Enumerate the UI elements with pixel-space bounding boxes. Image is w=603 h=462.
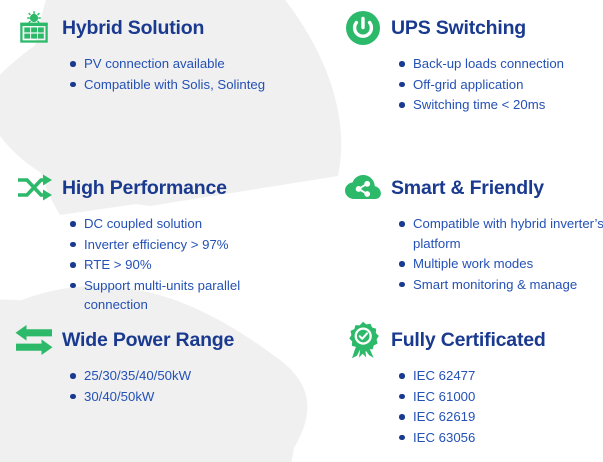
shuffle-arrows-icon	[14, 168, 54, 208]
feature-wide-power-range: Wide Power Range 25/30/35/40/50kW 30/40/…	[14, 320, 282, 407]
feature-ups-switching: UPS Switching Back-up loads connection O…	[343, 8, 603, 116]
feature-hybrid-solution: Hybrid Solution PV connection available …	[14, 8, 282, 95]
feature-list: 25/30/35/40/50kW 30/40/50kW	[14, 366, 282, 406]
list-item: Multiple work modes	[399, 254, 603, 274]
feature-high-performance: High Performance DC coupled solution Inv…	[14, 168, 282, 316]
feature-title: UPS Switching	[391, 17, 526, 40]
feature-fully-certificated: Fully Certificated IEC 62477 IEC 61000 I…	[343, 320, 603, 448]
feature-title: Smart & Friendly	[391, 177, 544, 200]
list-item: IEC 62477	[399, 366, 603, 386]
certificate-rosette-icon	[343, 320, 383, 360]
solar-panel-icon	[14, 8, 54, 48]
list-item: DC coupled solution	[70, 214, 282, 234]
list-item: Switching time < 20ms	[399, 95, 603, 115]
feature-title: Hybrid Solution	[62, 17, 204, 40]
feature-list: PV connection available Compatible with …	[14, 54, 282, 94]
cloud-share-icon	[343, 168, 383, 208]
list-item: Off-grid application	[399, 75, 603, 95]
list-item: IEC 61000	[399, 387, 603, 407]
list-item: IEC 63056	[399, 428, 603, 448]
feature-title: High Performance	[62, 177, 227, 200]
feature-title: Fully Certificated	[391, 329, 546, 352]
list-item: Support multi-units parallel connection	[70, 276, 282, 315]
feature-list: IEC 62477 IEC 61000 IEC 62619 IEC 63056	[343, 366, 603, 447]
feature-header: UPS Switching	[343, 8, 603, 48]
feature-title: Wide Power Range	[62, 329, 234, 352]
list-item: IEC 62619	[399, 407, 603, 427]
list-item: Compatible with hybrid inverter’s platfo…	[399, 214, 603, 253]
list-item: Compatible with Solis, Solinteg	[70, 75, 282, 95]
feature-list: Compatible with hybrid inverter’s platfo…	[343, 214, 603, 294]
list-item: 25/30/35/40/50kW	[70, 366, 282, 386]
list-item: 30/40/50kW	[70, 387, 282, 407]
feature-header: High Performance	[14, 168, 282, 208]
list-item: PV connection available	[70, 54, 282, 74]
list-item: Back-up loads connection	[399, 54, 603, 74]
list-item: Smart monitoring & manage	[399, 275, 603, 295]
feature-header: Fully Certificated	[343, 320, 603, 360]
list-item: RTE > 90%	[70, 255, 282, 275]
power-button-icon	[343, 8, 383, 48]
feature-list: DC coupled solution Inverter efficiency …	[14, 214, 282, 315]
bidirectional-arrows-icon	[14, 320, 54, 360]
list-item: Inverter efficiency > 97%	[70, 235, 282, 255]
feature-smart-friendly: Smart & Friendly Compatible with hybrid …	[343, 168, 603, 295]
feature-header: Hybrid Solution	[14, 8, 282, 48]
feature-header: Smart & Friendly	[343, 168, 603, 208]
feature-list: Back-up loads connection Off-grid applic…	[343, 54, 603, 115]
feature-header: Wide Power Range	[14, 320, 282, 360]
feature-grid: Hybrid Solution PV connection available …	[0, 0, 603, 462]
